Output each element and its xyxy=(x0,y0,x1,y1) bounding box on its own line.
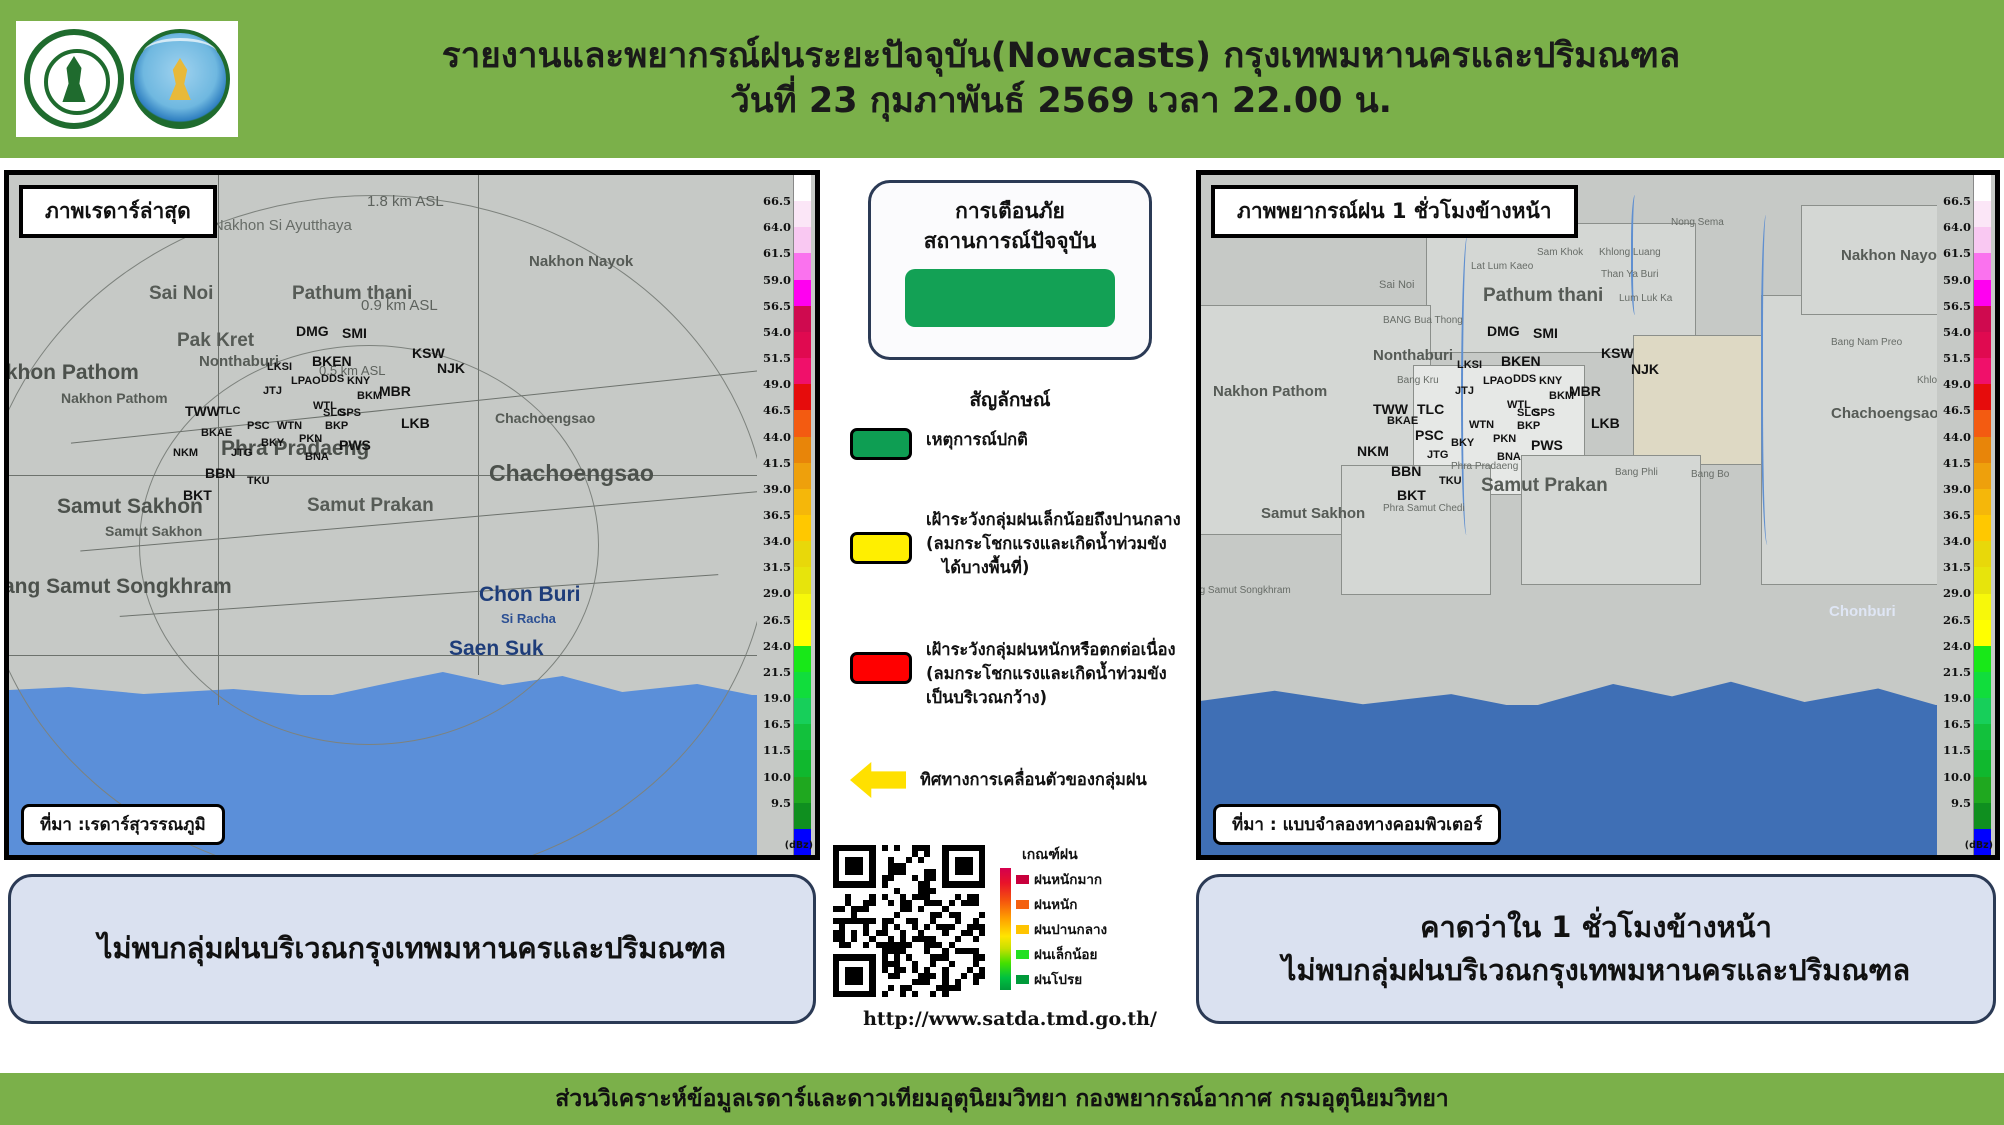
colorbar-tick-41.5: 41.5 xyxy=(1943,456,1971,470)
district-code-bky: BKY xyxy=(261,437,284,449)
district-code-jtg: JTG xyxy=(231,447,252,459)
colorbar-band-21 xyxy=(794,724,811,750)
district-code-tww: TWW xyxy=(185,403,220,419)
rain-scale-item-light: ฝนเล็กน้อย xyxy=(1016,943,1107,965)
legend-swatch-heavy-rain xyxy=(850,652,912,684)
colorbar-unit-label: (dBz) xyxy=(785,840,813,851)
forecast-text-line-1: คาดว่าใน 1 ชั่วโมงข้างหน้า xyxy=(1420,906,1772,950)
district-code-tlc: TLC xyxy=(219,405,240,417)
colorbar-band-24 xyxy=(1974,803,1991,829)
colorbar-tick-31.5: 31.5 xyxy=(763,560,791,574)
colorbar-band-18 xyxy=(1974,646,1991,672)
colorbar-tick-54.0: 54.0 xyxy=(1943,325,1971,339)
district-code-psc: PSC xyxy=(1415,427,1444,443)
rain-scale-chip-heavy xyxy=(1016,900,1029,909)
district-code-pws: PWS xyxy=(339,437,371,453)
rain-scale-chip-moderate xyxy=(1016,925,1029,934)
province-area-chachoengsao xyxy=(1633,335,1763,465)
rain-scale-label-light: ฝนเล็กน้อย xyxy=(1034,943,1097,965)
colorbar-band-13 xyxy=(1974,515,1991,541)
satda-website-url[interactable]: http://www.satda.tmd.go.th/ xyxy=(828,1008,1192,1030)
radar-panel-title: ภาพเรดาร์ล่าสุด xyxy=(19,185,217,238)
district-code-wtn: WTN xyxy=(1469,419,1494,431)
district-code-slg: SLG xyxy=(1517,407,1540,419)
colorbar-band-7 xyxy=(794,358,811,384)
place-label-sai-noi: Sai Noi xyxy=(1379,279,1414,291)
legend-swatch-light-moderate-rain xyxy=(850,532,912,564)
district-code-pws: PWS xyxy=(1531,437,1563,453)
royal-rainmaking-seal-icon xyxy=(24,29,124,129)
district-code-dds: DDS xyxy=(1513,373,1536,385)
legend-item-normal: เหตุการณ์ปกติ xyxy=(850,428,1028,460)
colorbar-band-23 xyxy=(794,777,811,803)
district-code-smi: SMI xyxy=(1533,325,1558,341)
colorbar-band-2 xyxy=(794,227,811,253)
district-code-jtg: JTG xyxy=(1427,449,1448,461)
legend-item-heavy-rain: เฝ้าระวังกลุ่มฝนหนักหรือตกต่อเนื่อง (ลมก… xyxy=(850,638,1176,710)
colorbar-band-6 xyxy=(1974,332,1991,358)
colorbar-gradient-strip xyxy=(1973,175,1991,855)
rain-scale-chip-light xyxy=(1016,950,1029,959)
district-code-smi: SMI xyxy=(342,325,367,341)
legend-label-normal: เหตุการณ์ปกติ xyxy=(926,428,1028,452)
colorbar-band-17 xyxy=(1974,620,1991,646)
district-code-bna: BNA xyxy=(1497,451,1521,463)
colorbar-tick-24.0: 24.0 xyxy=(1943,639,1971,653)
colorbar-band-10 xyxy=(794,437,811,463)
nowcast-forecast-panel[interactable]: Suphan Buri Phra Nakhon Si Ayutthaya Non… xyxy=(1196,170,2000,860)
district-code-bkm: BKM xyxy=(357,390,382,402)
colorbar-tick-16.5: 16.5 xyxy=(763,717,791,731)
colorbar-tick-19.0: 19.0 xyxy=(1943,691,1971,705)
colorbar-tick-36.5: 36.5 xyxy=(763,508,791,522)
colorbar-band-16 xyxy=(1974,594,1991,620)
alert-card-title-line-1: การเตือนภัย xyxy=(871,197,1149,227)
colorbar-band-1 xyxy=(794,201,811,227)
rain-scale-chip-drizzle xyxy=(1016,975,1029,984)
page-title-line-2: วันที่ 23 กุมภาพันธ์ 2569 เวลา 22.00 น. xyxy=(238,79,1884,124)
colorbar-band-8 xyxy=(794,384,811,410)
page-title-line-1: รายงานและพยากรณ์ฝนระยะปัจจุบัน(Nowcasts)… xyxy=(238,34,1884,79)
colorbar-tick-19.0: 19.0 xyxy=(763,691,791,705)
legend-label-line-1: เฝ้าระวังกลุ่มฝนเล็กน้อยถึงปานกลาง xyxy=(926,508,1181,532)
colorbar-tick-39.0: 39.0 xyxy=(763,482,791,496)
colorbar-unit-label: (dBz) xyxy=(1965,840,1993,851)
colorbar-band-9 xyxy=(794,410,811,436)
district-code-jtj: JTJ xyxy=(1455,385,1474,397)
colorbar-tick-64.0: 64.0 xyxy=(1943,220,1971,234)
district-code-bken: BKEN xyxy=(312,353,352,369)
colorbar-band-5 xyxy=(794,306,811,332)
colorbar-tick-labels: 66.564.061.559.056.554.051.549.046.544.0… xyxy=(757,175,793,855)
thai-meteorological-department-seal-icon xyxy=(130,29,230,129)
current-alert-card: การเตือนภัย สถานการณ์ปัจจุบัน xyxy=(868,180,1152,360)
district-code-bkae: BKAE xyxy=(201,427,232,439)
center-legend-column: การเตือนภัย สถานการณ์ปัจจุบัน สัญลักษณ์ … xyxy=(828,170,1192,1070)
colorbar-band-2 xyxy=(1974,227,1991,253)
rain-scale-label-moderate: ฝนปานกลาง xyxy=(1034,918,1107,940)
rain-intensity-scale: เกณฑ์ฝน ฝนหนักมาก ฝนหนัก xyxy=(1000,840,1107,990)
district-code-bbn: BBN xyxy=(1391,463,1421,479)
district-code-mbr: MBR xyxy=(379,383,411,399)
colorbar-band-12 xyxy=(794,489,811,515)
legend-item-movement-direction: ทิศทางการเคลื่อนตัวของกลุ่มฝน xyxy=(850,762,1147,798)
qr-and-rain-scale-block: เกณฑ์ฝน ฝนหนักมาก ฝนหนัก xyxy=(828,840,1192,1030)
colorbar-band-22 xyxy=(1974,750,1991,776)
colorbar-band-3 xyxy=(794,253,811,279)
colorbar-tick-59.0: 59.0 xyxy=(763,273,791,287)
colorbar-tick-31.5: 31.5 xyxy=(1943,560,1971,574)
colorbar-tick-61.5: 61.5 xyxy=(763,246,791,260)
legend-label-line-3: เป็นบริเวณกว้าง) xyxy=(926,686,1176,710)
district-code-bkp: BKP xyxy=(325,420,348,432)
rain-scale-items: ฝนหนักมาก ฝนหนัก ฝนปานกลาง ฝนเล็กน้ xyxy=(1016,868,1107,990)
nowcast-panel-source: ที่มา : แบบจำลองทางคอมพิวเตอร์ xyxy=(1213,804,1501,845)
district-code-tlc: TLC xyxy=(1417,401,1444,417)
rain-scale-chip-very-heavy xyxy=(1016,875,1029,884)
rain-scale-item-very-heavy: ฝนหนักมาก xyxy=(1016,868,1107,890)
rain-scale-label-heavy: ฝนหนัก xyxy=(1034,893,1077,915)
district-code-bkm: BKM xyxy=(1549,390,1574,402)
district-code-lpao: LPAO xyxy=(1483,375,1513,387)
province-area-nakhon-nayok xyxy=(1801,205,1937,315)
colorbar-tick-49.0: 49.0 xyxy=(1943,377,1971,391)
colorbar-band-11 xyxy=(1974,463,1991,489)
colorbar-band-3 xyxy=(1974,253,1991,279)
colorbar-band-9 xyxy=(1974,410,1991,436)
colorbar-tick-labels: 66.564.061.559.056.554.051.549.046.544.0… xyxy=(1937,175,1973,855)
district-code-dmg: DMG xyxy=(1487,323,1520,339)
nowcast-panel-title: ภาพพยากรณ์ฝน 1 ชั่วโมงข้างหน้า xyxy=(1211,185,1578,238)
district-code-ksw: KSW xyxy=(1601,345,1634,361)
place-label-chonburi: Chonburi xyxy=(1829,603,1896,620)
legend-item-light-moderate-rain: เฝ้าระวังกลุ่มฝนเล็กน้อยถึงปานกลาง (ลมกร… xyxy=(850,508,1181,580)
province-area-chachoengsao-outer xyxy=(1761,295,1937,585)
colorbar-band-15 xyxy=(1974,567,1991,593)
colorbar-tick-29.0: 29.0 xyxy=(763,586,791,600)
colorbar-tick-21.5: 21.5 xyxy=(763,665,791,679)
rain-scale-label-very-heavy: ฝนหนักมาก xyxy=(1034,868,1102,890)
district-code-bbn: BBN xyxy=(205,465,235,481)
province-area-samut-prakan xyxy=(1521,455,1701,585)
colorbar-band-13 xyxy=(794,515,811,541)
colorbar-tick-44.0: 44.0 xyxy=(1943,430,1971,444)
colorbar-tick-66.5: 66.5 xyxy=(1943,194,1971,208)
satda-tmd-qr-code-icon[interactable] xyxy=(828,840,990,1002)
district-code-bken: BKEN xyxy=(1501,353,1541,369)
district-code-tku: TKU xyxy=(1439,475,1462,487)
district-code-kny: KNY xyxy=(1539,375,1562,387)
district-code-bna: BNA xyxy=(305,451,329,463)
radar-reflectivity-colorbar: 66.564.061.559.056.554.051.549.046.544.0… xyxy=(757,175,815,855)
district-code-slg: SLG xyxy=(323,407,346,419)
legend-label-line-2: (ลมกระโชกแรงและเกิดน้ำท่วมขัง xyxy=(926,532,1181,556)
colorbar-band-19 xyxy=(794,672,811,698)
colorbar-band-22 xyxy=(794,750,811,776)
colorbar-tick-46.5: 46.5 xyxy=(763,403,791,417)
colorbar-band-21 xyxy=(1974,724,1991,750)
legend-label-heavy-rain: เฝ้าระวังกลุ่มฝนหนักหรือตกต่อเนื่อง (ลมก… xyxy=(926,638,1176,710)
qr-code-matrix xyxy=(833,845,985,997)
district-code-wtn: WTN xyxy=(277,420,302,432)
river-branch-north xyxy=(1631,195,1641,315)
colorbar-tick-34.0: 34.0 xyxy=(763,534,791,548)
colorbar-band-20 xyxy=(1974,698,1991,724)
district-code-lkb: LKB xyxy=(401,415,430,431)
legend-label-line-2: (ลมกระโชกแรงและเกิดน้ำท่วมขัง xyxy=(926,662,1176,686)
colorbar-tick-44.0: 44.0 xyxy=(763,430,791,444)
forecast-summary-box: คาดว่าใน 1 ชั่วโมงข้างหน้า ไม่พบกลุ่มฝนบ… xyxy=(1196,874,1996,1024)
footer-text: ส่วนวิเคราะห์ข้อมูลเรดาร์และดาวเทียมอุตุ… xyxy=(555,1081,1448,1117)
district-code-dds: DDS xyxy=(321,373,344,385)
colorbar-band-8 xyxy=(1974,384,1991,410)
rain-scale-item-moderate: ฝนปานกลาง xyxy=(1016,918,1107,940)
colorbar-tick-56.5: 56.5 xyxy=(763,299,791,313)
district-code-lpao: LPAO xyxy=(291,375,321,387)
colorbar-tick-64.0: 64.0 xyxy=(763,220,791,234)
colorbar-tick-9.5: 9.5 xyxy=(771,796,791,810)
rain-scale-item-heavy: ฝนหนัก xyxy=(1016,893,1107,915)
rain-scale-item-drizzle: ฝนโปรย xyxy=(1016,968,1107,990)
colorbar-tick-10.0: 10.0 xyxy=(763,770,791,784)
colorbar-tick-26.5: 26.5 xyxy=(763,613,791,627)
province-border-3 xyxy=(218,175,219,705)
colorbar-tick-29.0: 29.0 xyxy=(1943,586,1971,600)
colorbar-tick-34.0: 34.0 xyxy=(1943,534,1971,548)
colorbar-tick-66.5: 66.5 xyxy=(763,194,791,208)
radar-map-area[interactable]: 1.8 km ASL 0.9 km ASL 0.5 km ASL Suphan … xyxy=(9,175,757,855)
rain-scale-gradient-bar xyxy=(1000,868,1011,990)
asl-label-0-9km: 0.9 km ASL xyxy=(361,297,438,314)
district-code-psc: PSC xyxy=(247,420,270,432)
colorbar-band-14 xyxy=(1974,541,1991,567)
colorbar-band-18 xyxy=(794,646,811,672)
colorbar-band-19 xyxy=(1974,672,1991,698)
legend-title: สัญลักษณ์ xyxy=(828,385,1192,415)
district-code-lksi: LKSI xyxy=(267,361,292,373)
colorbar-tick-54.0: 54.0 xyxy=(763,325,791,339)
district-code-nkm: NKM xyxy=(1357,443,1389,459)
alert-card-title-line-2: สถานการณ์ปัจจุบัน xyxy=(871,227,1149,257)
colorbar-tick-24.0: 24.0 xyxy=(763,639,791,653)
colorbar-band-16 xyxy=(794,594,811,620)
colorbar-tick-26.5: 26.5 xyxy=(1943,613,1971,627)
colorbar-tick-11.5: 11.5 xyxy=(1943,743,1971,757)
province-border-1 xyxy=(9,475,757,476)
district-code-pkn: PKN xyxy=(1493,433,1516,445)
colorbar-band-6 xyxy=(794,332,811,358)
colorbar-tick-9.5: 9.5 xyxy=(1951,796,1971,810)
nowcast-map-area[interactable]: Suphan Buri Phra Nakhon Si Ayutthaya Non… xyxy=(1201,175,1937,855)
nowcast-reflectivity-colorbar: 66.564.061.559.056.554.051.549.046.544.0… xyxy=(1937,175,1995,855)
colorbar-band-7 xyxy=(1974,358,1991,384)
district-code-bkp: BKP xyxy=(1517,420,1540,432)
district-code-nkm: NKM xyxy=(173,447,198,459)
place-label-samut-songkhram: Mueang Samut Songkhram xyxy=(1201,585,1291,596)
river-branch-east xyxy=(1761,215,1775,545)
logo-box xyxy=(16,21,238,137)
district-code-ksw: KSW xyxy=(412,345,445,361)
colorbar-band-15 xyxy=(794,567,811,593)
district-code-tku: TKU xyxy=(247,475,270,487)
colorbar-band-5 xyxy=(1974,306,1991,332)
colorbar-band-23 xyxy=(1974,777,1991,803)
legend-label-line-1: เฝ้าระวังกลุ่มฝนหนักหรือตกต่อเนื่อง xyxy=(926,638,1176,662)
current-situation-summary-box: ไม่พบกลุ่มฝนบริเวณกรุงเทพมหานครและปริมณฑ… xyxy=(8,874,816,1024)
district-code-pkn: PKN xyxy=(299,433,322,445)
district-code-bkt: BKT xyxy=(183,487,212,503)
district-code-njk: NJK xyxy=(437,360,465,376)
legend-label-movement-direction: ทิศทางการเคลื่อนตัวของกลุ่มฝน xyxy=(920,768,1147,792)
colorbar-tick-51.5: 51.5 xyxy=(763,351,791,365)
district-code-bkae: BKAE xyxy=(1387,415,1418,427)
page-title: รายงานและพยากรณ์ฝนระยะปัจจุบัน(Nowcasts)… xyxy=(238,34,2004,124)
colorbar-band-12 xyxy=(1974,489,1991,515)
colorbar-band-20 xyxy=(794,698,811,724)
colorbar-band-14 xyxy=(794,541,811,567)
colorbar-band-17 xyxy=(794,620,811,646)
district-code-bkt: BKT xyxy=(1397,487,1426,503)
colorbar-band-4 xyxy=(794,280,811,306)
asl-label-1-8km: 1.8 km ASL xyxy=(367,193,444,210)
province-border-4 xyxy=(478,175,479,675)
rain-scale-label-drizzle: ฝนโปรย xyxy=(1034,968,1082,990)
colorbar-band-1 xyxy=(1974,201,1991,227)
rain-scale-title: เกณฑ์ฝน xyxy=(1022,844,1107,866)
colorbar-gradient-strip xyxy=(793,175,811,855)
colorbar-tick-49.0: 49.0 xyxy=(763,377,791,391)
colorbar-band-0 xyxy=(794,175,811,201)
page-footer: ส่วนวิเคราะห์ข้อมูลเรดาร์และดาวเทียมอุตุ… xyxy=(0,1073,2004,1125)
legend-swatch-normal xyxy=(850,428,912,460)
current-situation-text: ไม่พบกลุ่มฝนบริเวณกรุงเทพมหานครและปริมณฑ… xyxy=(98,927,726,971)
colorbar-tick-41.5: 41.5 xyxy=(763,456,791,470)
district-code-jtj: JTJ xyxy=(263,385,282,397)
seal-figure-icon xyxy=(57,56,91,102)
colorbar-tick-51.5: 51.5 xyxy=(1943,351,1971,365)
colorbar-band-0 xyxy=(1974,175,1991,201)
legend-label-line-3: ได้บางพื้นที่) xyxy=(926,556,1181,580)
radar-image-panel[interactable]: 1.8 km ASL 0.9 km ASL 0.5 km ASL Suphan … xyxy=(4,170,820,860)
colorbar-tick-46.5: 46.5 xyxy=(1943,403,1971,417)
colorbar-tick-16.5: 16.5 xyxy=(1943,717,1971,731)
colorbar-tick-59.0: 59.0 xyxy=(1943,273,1971,287)
district-code-lkb: LKB xyxy=(1591,415,1620,431)
legend-label-light-moderate-rain: เฝ้าระวังกลุ่มฝนเล็กน้อยถึงปานกลาง (ลมกร… xyxy=(926,508,1181,580)
district-code-njk: NJK xyxy=(1631,361,1659,377)
colorbar-band-10 xyxy=(1974,437,1991,463)
district-code-dmg: DMG xyxy=(296,323,329,339)
arrow-left-icon xyxy=(850,762,906,798)
colorbar-band-24 xyxy=(794,803,811,829)
colorbar-tick-56.5: 56.5 xyxy=(1943,299,1971,313)
district-code-kny: KNY xyxy=(347,375,370,387)
colorbar-tick-10.0: 10.0 xyxy=(1943,770,1971,784)
colorbar-tick-11.5: 11.5 xyxy=(763,743,791,757)
radar-panel-source: ที่มา :เรดาร์สุวรรณภูมิ xyxy=(21,804,225,845)
district-code-lksi: LKSI xyxy=(1457,359,1482,371)
forecast-text-line-2: ไม่พบกลุ่มฝนบริเวณกรุงเทพมหานครและปริมณฑ… xyxy=(1282,949,1910,993)
colorbar-tick-39.0: 39.0 xyxy=(1943,482,1971,496)
colorbar-tick-61.5: 61.5 xyxy=(1943,246,1971,260)
page-header: รายงานและพยากรณ์ฝนระยะปัจจุบัน(Nowcasts)… xyxy=(0,0,2004,158)
colorbar-band-11 xyxy=(794,463,811,489)
alert-status-chip xyxy=(905,269,1115,327)
colorbar-tick-36.5: 36.5 xyxy=(1943,508,1971,522)
colorbar-band-4 xyxy=(1974,280,1991,306)
district-code-bky: BKY xyxy=(1451,437,1474,449)
seal-figure-icon xyxy=(165,58,195,100)
colorbar-tick-21.5: 21.5 xyxy=(1943,665,1971,679)
province-border-2 xyxy=(9,655,757,656)
